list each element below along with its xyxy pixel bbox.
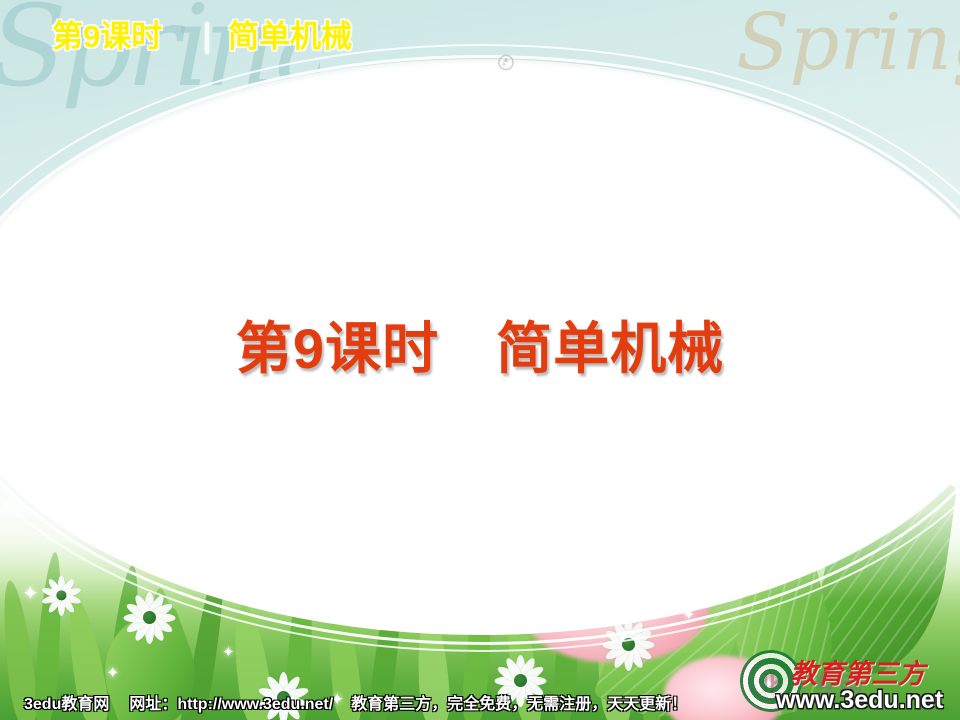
footer-ad-bar: 3edu教育网 网址：http://www.3edu.net/ 教育第三方，完全… <box>0 692 960 718</box>
sparkle-icon: ✦ <box>106 666 119 682</box>
footer-brand: 3edu教育网 <box>24 695 109 715</box>
sparkle-icon: ✦ <box>682 608 695 624</box>
slide-canvas: Spring Spring <box>0 0 960 720</box>
header-lesson-label: 第9课时 <box>52 20 162 54</box>
footer-slogan: 教育第三方，完全免费，无需注册，天天更新！ <box>351 695 687 715</box>
sparkle-icon: ✦ <box>222 645 235 660</box>
recycle-icon <box>497 54 515 71</box>
header-divider <box>205 22 209 54</box>
page-title: 第9课时 简单机械 <box>0 318 960 380</box>
header-topic-label: 简单机械 <box>228 20 352 54</box>
footer-url[interactable]: 网址：http://www.3edu.net/ <box>129 695 333 715</box>
slide-header: 第9课时 简单机械 <box>0 0 960 72</box>
